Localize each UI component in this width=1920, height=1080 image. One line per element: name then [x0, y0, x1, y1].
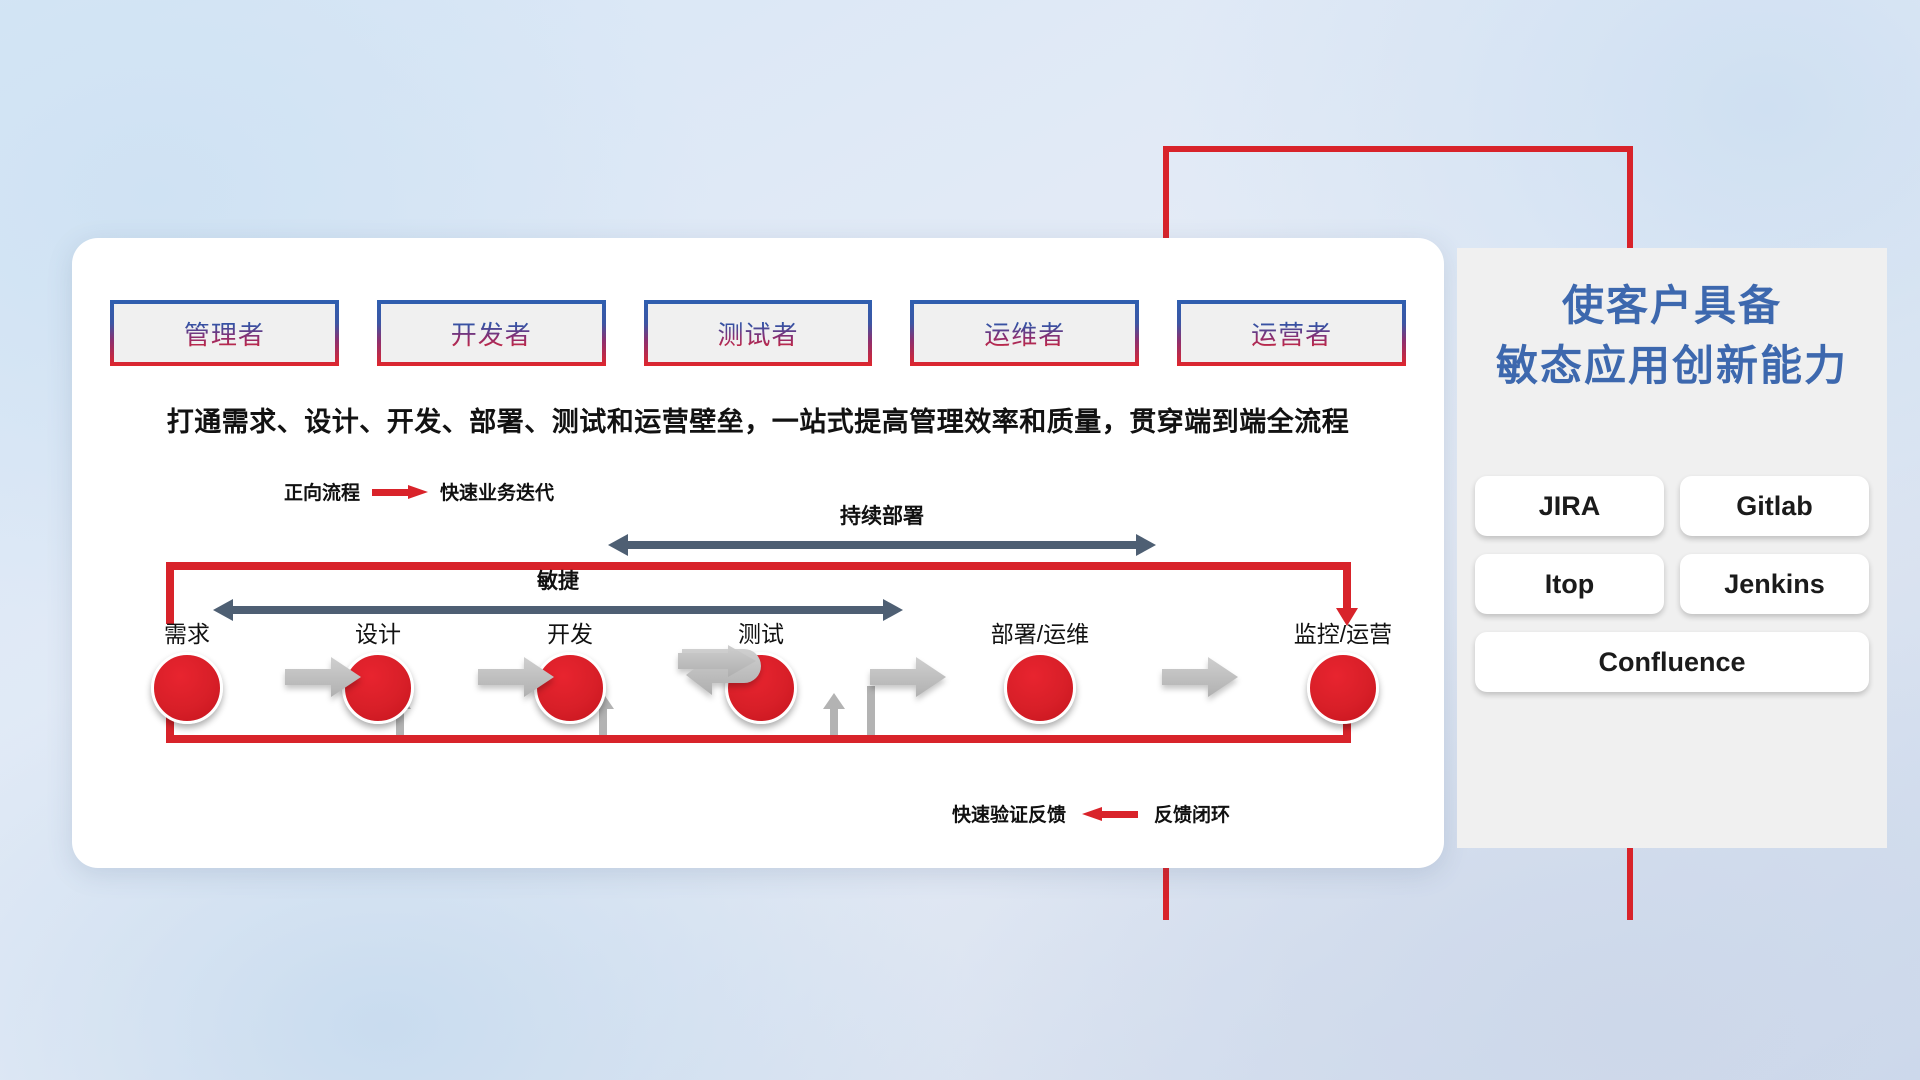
role-label: 管理者 [184, 315, 265, 352]
role-box-manager[interactable]: 管理者 [110, 300, 339, 366]
span-label: 敏捷 [213, 565, 903, 595]
pipeline-node-deploy-ops[interactable]: 部署/运维 [955, 615, 1125, 724]
forward-flow-legend: 正向流程 快速业务迭代 [284, 478, 554, 505]
gray-block-arrow-icon [478, 657, 554, 697]
feedback-source-label: 反馈闭环 [1154, 800, 1230, 827]
pipeline-row: 需求 设计 开发 测试 部署/运维 监控/运营 [110, 615, 1410, 725]
forward-flow-source-label: 正向流程 [284, 478, 360, 505]
pipeline-node-monitor-operations[interactable]: 监控/运营 [1258, 615, 1428, 724]
gray-block-arrow-icon [285, 657, 361, 697]
pipeline-node-requirement[interactable]: 需求 [132, 615, 242, 724]
tool-chip-confluence[interactable]: Confluence [1475, 632, 1869, 692]
role-box-operator[interactable]: 运营者 [1177, 300, 1406, 366]
role-box-developer[interactable]: 开发者 [377, 300, 606, 366]
node-label: 需求 [132, 615, 242, 649]
headline-text: 打通需求、设计、开发、部署、测试和运营壁垒，一站式提高管理效率和质量，贯穿端到端… [72, 400, 1444, 439]
gray-block-arrow-icon [1162, 657, 1238, 697]
tool-chip-jenkins[interactable]: Jenkins [1680, 554, 1869, 614]
node-dot [151, 652, 223, 724]
forward-flow-target-label: 快速业务迭代 [440, 478, 554, 505]
span-agile: 敏捷 [213, 565, 903, 621]
red-left-arrow-icon [1082, 807, 1138, 821]
panel-title-line-1: 使客户具备 [1457, 276, 1887, 336]
tool-chip-grid: JIRA Gitlab Itop Jenkins Confluence [1475, 476, 1869, 692]
node-label: 设计 [323, 615, 433, 649]
tool-chip-itop[interactable]: Itop [1475, 554, 1664, 614]
role-box-row: 管理者 开发者 测试者 运维者 运营者 [110, 300, 1406, 366]
role-label: 运营者 [1251, 315, 1332, 352]
panel-title: 使客户具备 敏态应用创新能力 [1457, 248, 1887, 395]
red-loop-bottom-line [166, 735, 1351, 743]
loop-back-arrow-icon [678, 643, 774, 707]
feedback-loop-legend: 快速验证反馈 反馈闭环 [952, 800, 1230, 827]
gray-block-arrow-icon [870, 657, 946, 697]
panel-title-line-2: 敏态应用创新能力 [1457, 336, 1887, 396]
tool-chip-gitlab[interactable]: Gitlab [1680, 476, 1869, 536]
node-label: 开发 [515, 615, 625, 649]
span-continuous-deployment: 持续部署 [608, 500, 1156, 556]
value-proposition-panel: 使客户具备 敏态应用创新能力 JIRA Gitlab Itop Jenkins … [1457, 248, 1887, 848]
node-label: 部署/运维 [955, 615, 1125, 649]
role-label: 运维者 [984, 315, 1065, 352]
tool-chip-jira[interactable]: JIRA [1475, 476, 1664, 536]
role-box-ops[interactable]: 运维者 [910, 300, 1139, 366]
red-right-arrow-icon [372, 485, 428, 499]
span-label: 持续部署 [608, 500, 1156, 530]
node-label: 监控/运营 [1258, 615, 1428, 649]
node-dot [1004, 652, 1076, 724]
role-box-tester[interactable]: 测试者 [644, 300, 873, 366]
node-dot [1307, 652, 1379, 724]
role-label: 开发者 [451, 315, 532, 352]
double-headed-arrow-icon [608, 534, 1156, 556]
role-label: 测试者 [717, 315, 798, 352]
feedback-target-label: 快速验证反馈 [952, 800, 1066, 827]
